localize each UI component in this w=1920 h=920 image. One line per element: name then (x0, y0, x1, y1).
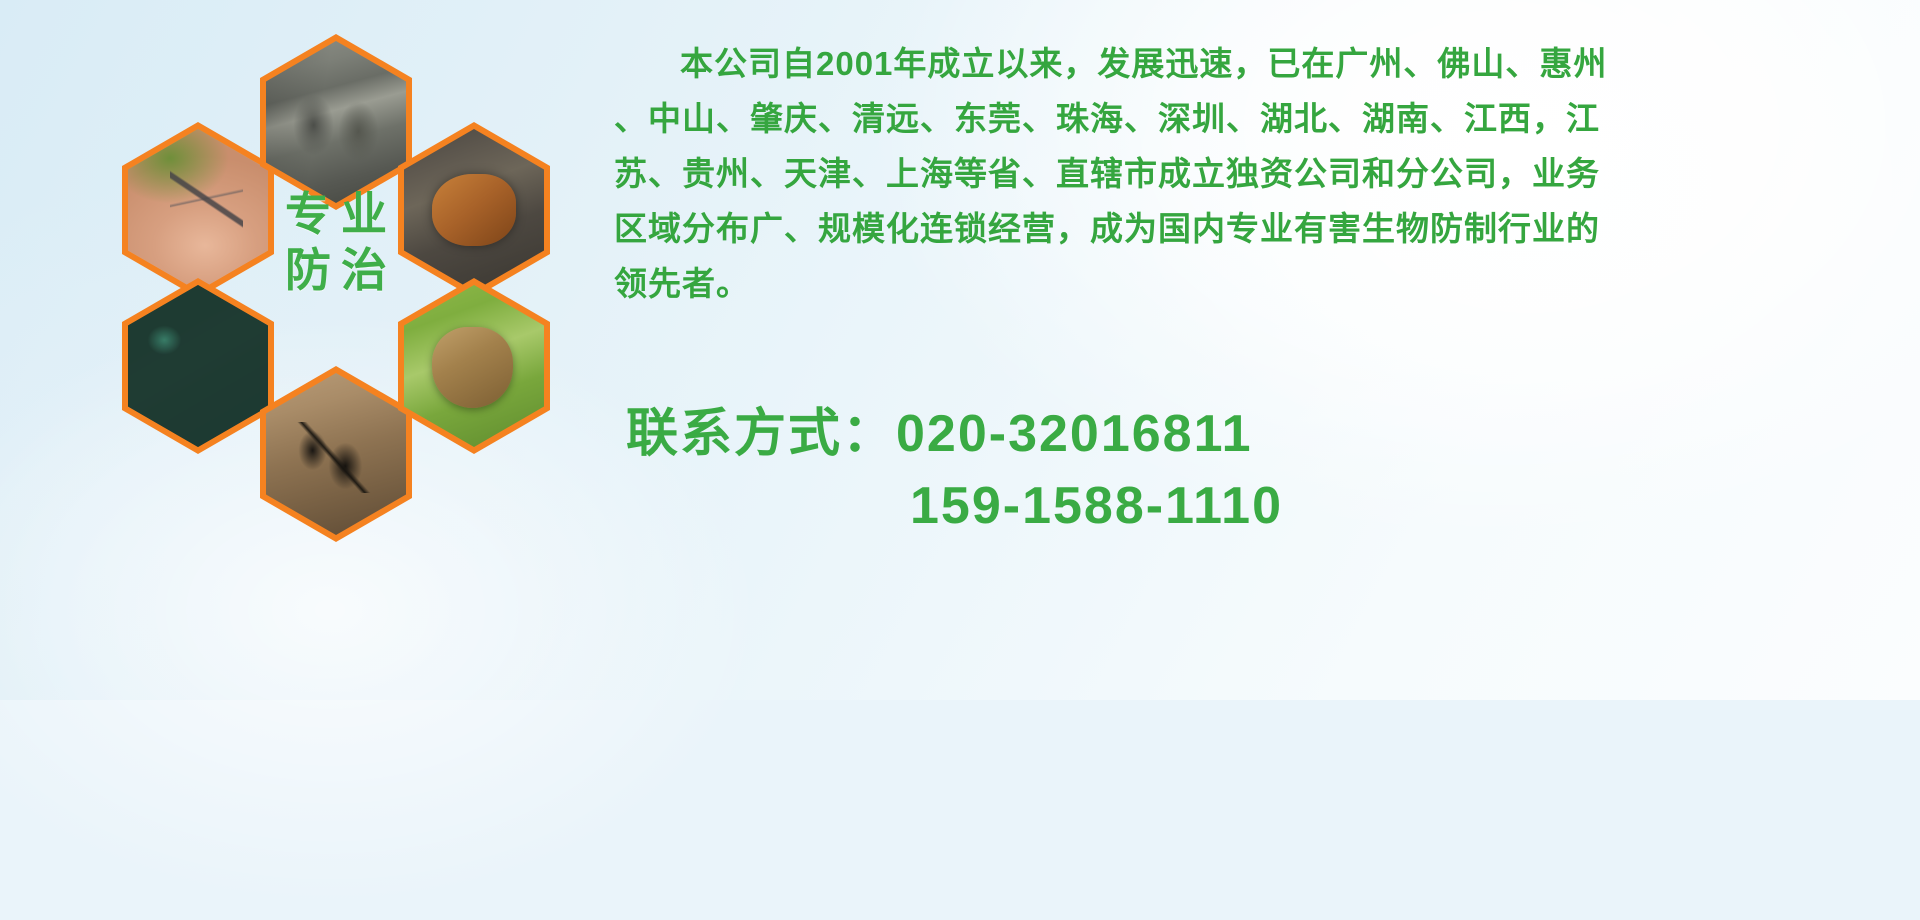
flies-photo (128, 285, 268, 447)
center-label-line-2: 防治 (275, 242, 397, 298)
company-intro-paragraph: 本公司自2001年成立以来，发展迅速，已在广州、佛山、惠州 、中山、肇庆、清远、… (614, 36, 1904, 311)
hex-cell-cockroach (398, 122, 550, 298)
hex-photo-frame (404, 129, 544, 291)
cockroach-photo (404, 129, 544, 291)
center-label-line-1: 专业 (275, 186, 397, 242)
hex-cell-stink-bug (398, 278, 550, 454)
ant-photo (266, 373, 406, 535)
intro-line: 苏、贵州、天津、上海等省、直辖市成立独资公司和分公司，业务 (614, 146, 1904, 201)
hex-photo-frame (266, 373, 406, 535)
contact-phone-secondary[interactable]: 159-1588-1110 (626, 470, 1906, 542)
hex-cell-mosquito (122, 122, 274, 298)
hex-cell-ant (260, 366, 412, 542)
honeycomb-collage: 专业 防治 (88, 8, 588, 568)
intro-line: 领先者。 (614, 256, 1904, 311)
hex-cell-flies (122, 278, 274, 454)
hex-photo-frame (404, 285, 544, 447)
intro-line: 、中山、肇庆、清远、东莞、珠海、深圳、湖北、湖南、江西，江 (614, 91, 1904, 146)
intro-line: 区域分布广、规模化连锁经营，成为国内专业有害生物防制行业的 (614, 201, 1904, 256)
stink-bug-photo (404, 285, 544, 447)
hex-photo-frame (128, 285, 268, 447)
intro-line: 本公司自2001年成立以来，发展迅速，已在广州、佛山、惠州 (614, 36, 1904, 91)
contact-block: 联系方式：020-32016811 159-1588-1110 (626, 398, 1906, 542)
mosquito-photo (128, 129, 268, 291)
honeycomb-center-label: 专业 防治 (260, 154, 412, 330)
hex-photo-frame (128, 129, 268, 291)
contact-phone-primary[interactable]: 联系方式：020-32016811 (626, 398, 1906, 470)
banner-root: 专业 防治 本公司自2001年成立以来，发展迅速，已在广州、佛山、惠州 、中山、… (0, 0, 1920, 700)
